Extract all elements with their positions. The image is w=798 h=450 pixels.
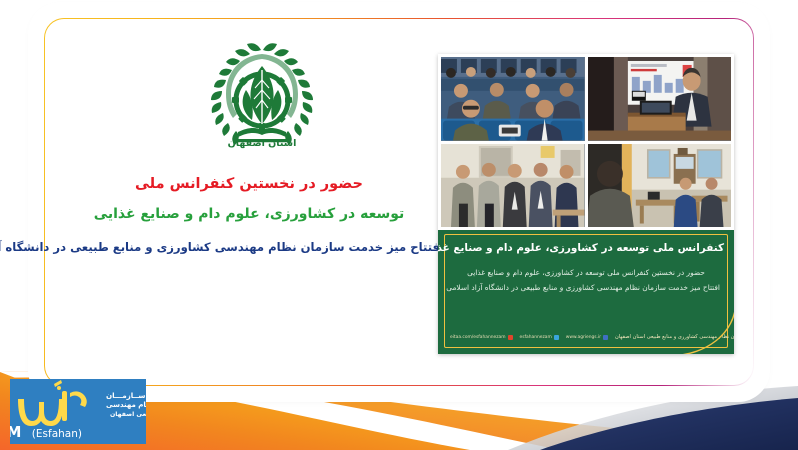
- card-content: استان اصفهان حضور در نخستین کنفرانس ملی …: [44, 18, 754, 386]
- svg-text:کشاورزی و منابع طبیعی اصفهان: کشاورزی و منابع طبیعی اصفهان: [110, 411, 146, 418]
- social-handle-telegram: esfahannezam: [520, 335, 552, 340]
- event-poster: کنفرانس ملی توسعه در کشاورزی، علوم دام و…: [438, 54, 734, 354]
- sanam-logo-badge[interactable]: ســازمـــان نظام مهندسی کشاورزی و منابع …: [10, 379, 146, 444]
- poster-text-band: کنفرانس ملی توسعه در کشاورزی، علوم دام و…: [438, 230, 734, 354]
- social-handle-globe: www.agriengs.ir: [566, 335, 601, 340]
- poster-subtitle-2: افتتاح میز خدمت سازمان نظام مهندسی کشاور…: [452, 283, 720, 292]
- headline-line-3: افتتاح میز خدمت سازمان نظام مهندسی کشاور…: [54, 240, 444, 254]
- poster-subtitle-1: حضور در نخستین کنفرانس ملی توسعه در کشاو…: [452, 268, 720, 277]
- poster-title: کنفرانس ملی توسعه در کشاورزی، علوم دام و…: [448, 242, 724, 254]
- instagram-icon: [508, 335, 513, 340]
- svg-text:(Esfahan): (Esfahan): [32, 428, 82, 440]
- left-column: استان اصفهان حضور در نخستین کنفرانس ملی …: [54, 18, 444, 386]
- svg-text:SANAM: SANAM: [10, 423, 22, 441]
- globe-icon: [603, 335, 608, 340]
- photo-collage: [438, 54, 734, 230]
- org-logo-caption: استان اصفهان: [202, 138, 322, 149]
- telegram-icon: [554, 335, 559, 340]
- poster-corner-arc: [650, 300, 734, 354]
- headline-line-1: حضور در نخستین کنفرانس ملی: [54, 176, 444, 192]
- photo-office-visit: [588, 144, 732, 228]
- svg-text:ســازمـــان: ســازمـــان: [106, 391, 145, 400]
- svg-text:نظام مهندسی: نظام مهندسی: [106, 401, 146, 409]
- photo-audience-seated: [441, 57, 585, 141]
- social-handle-eitaa: eitaa.com/esfahannezam: [450, 335, 506, 340]
- headline-line-2: توسعه در کشاورزی، علوم دام و صنایع غذایی: [54, 206, 444, 222]
- social-link-telegram[interactable]: esfahannezam: [520, 335, 559, 340]
- photo-speaker-podium: [588, 57, 732, 141]
- photo-group-standing: [441, 144, 585, 228]
- social-link-globe[interactable]: www.agriengs.ir: [566, 335, 608, 340]
- social-link-eitaa[interactable]: eitaa.com/esfahannezam: [450, 335, 513, 340]
